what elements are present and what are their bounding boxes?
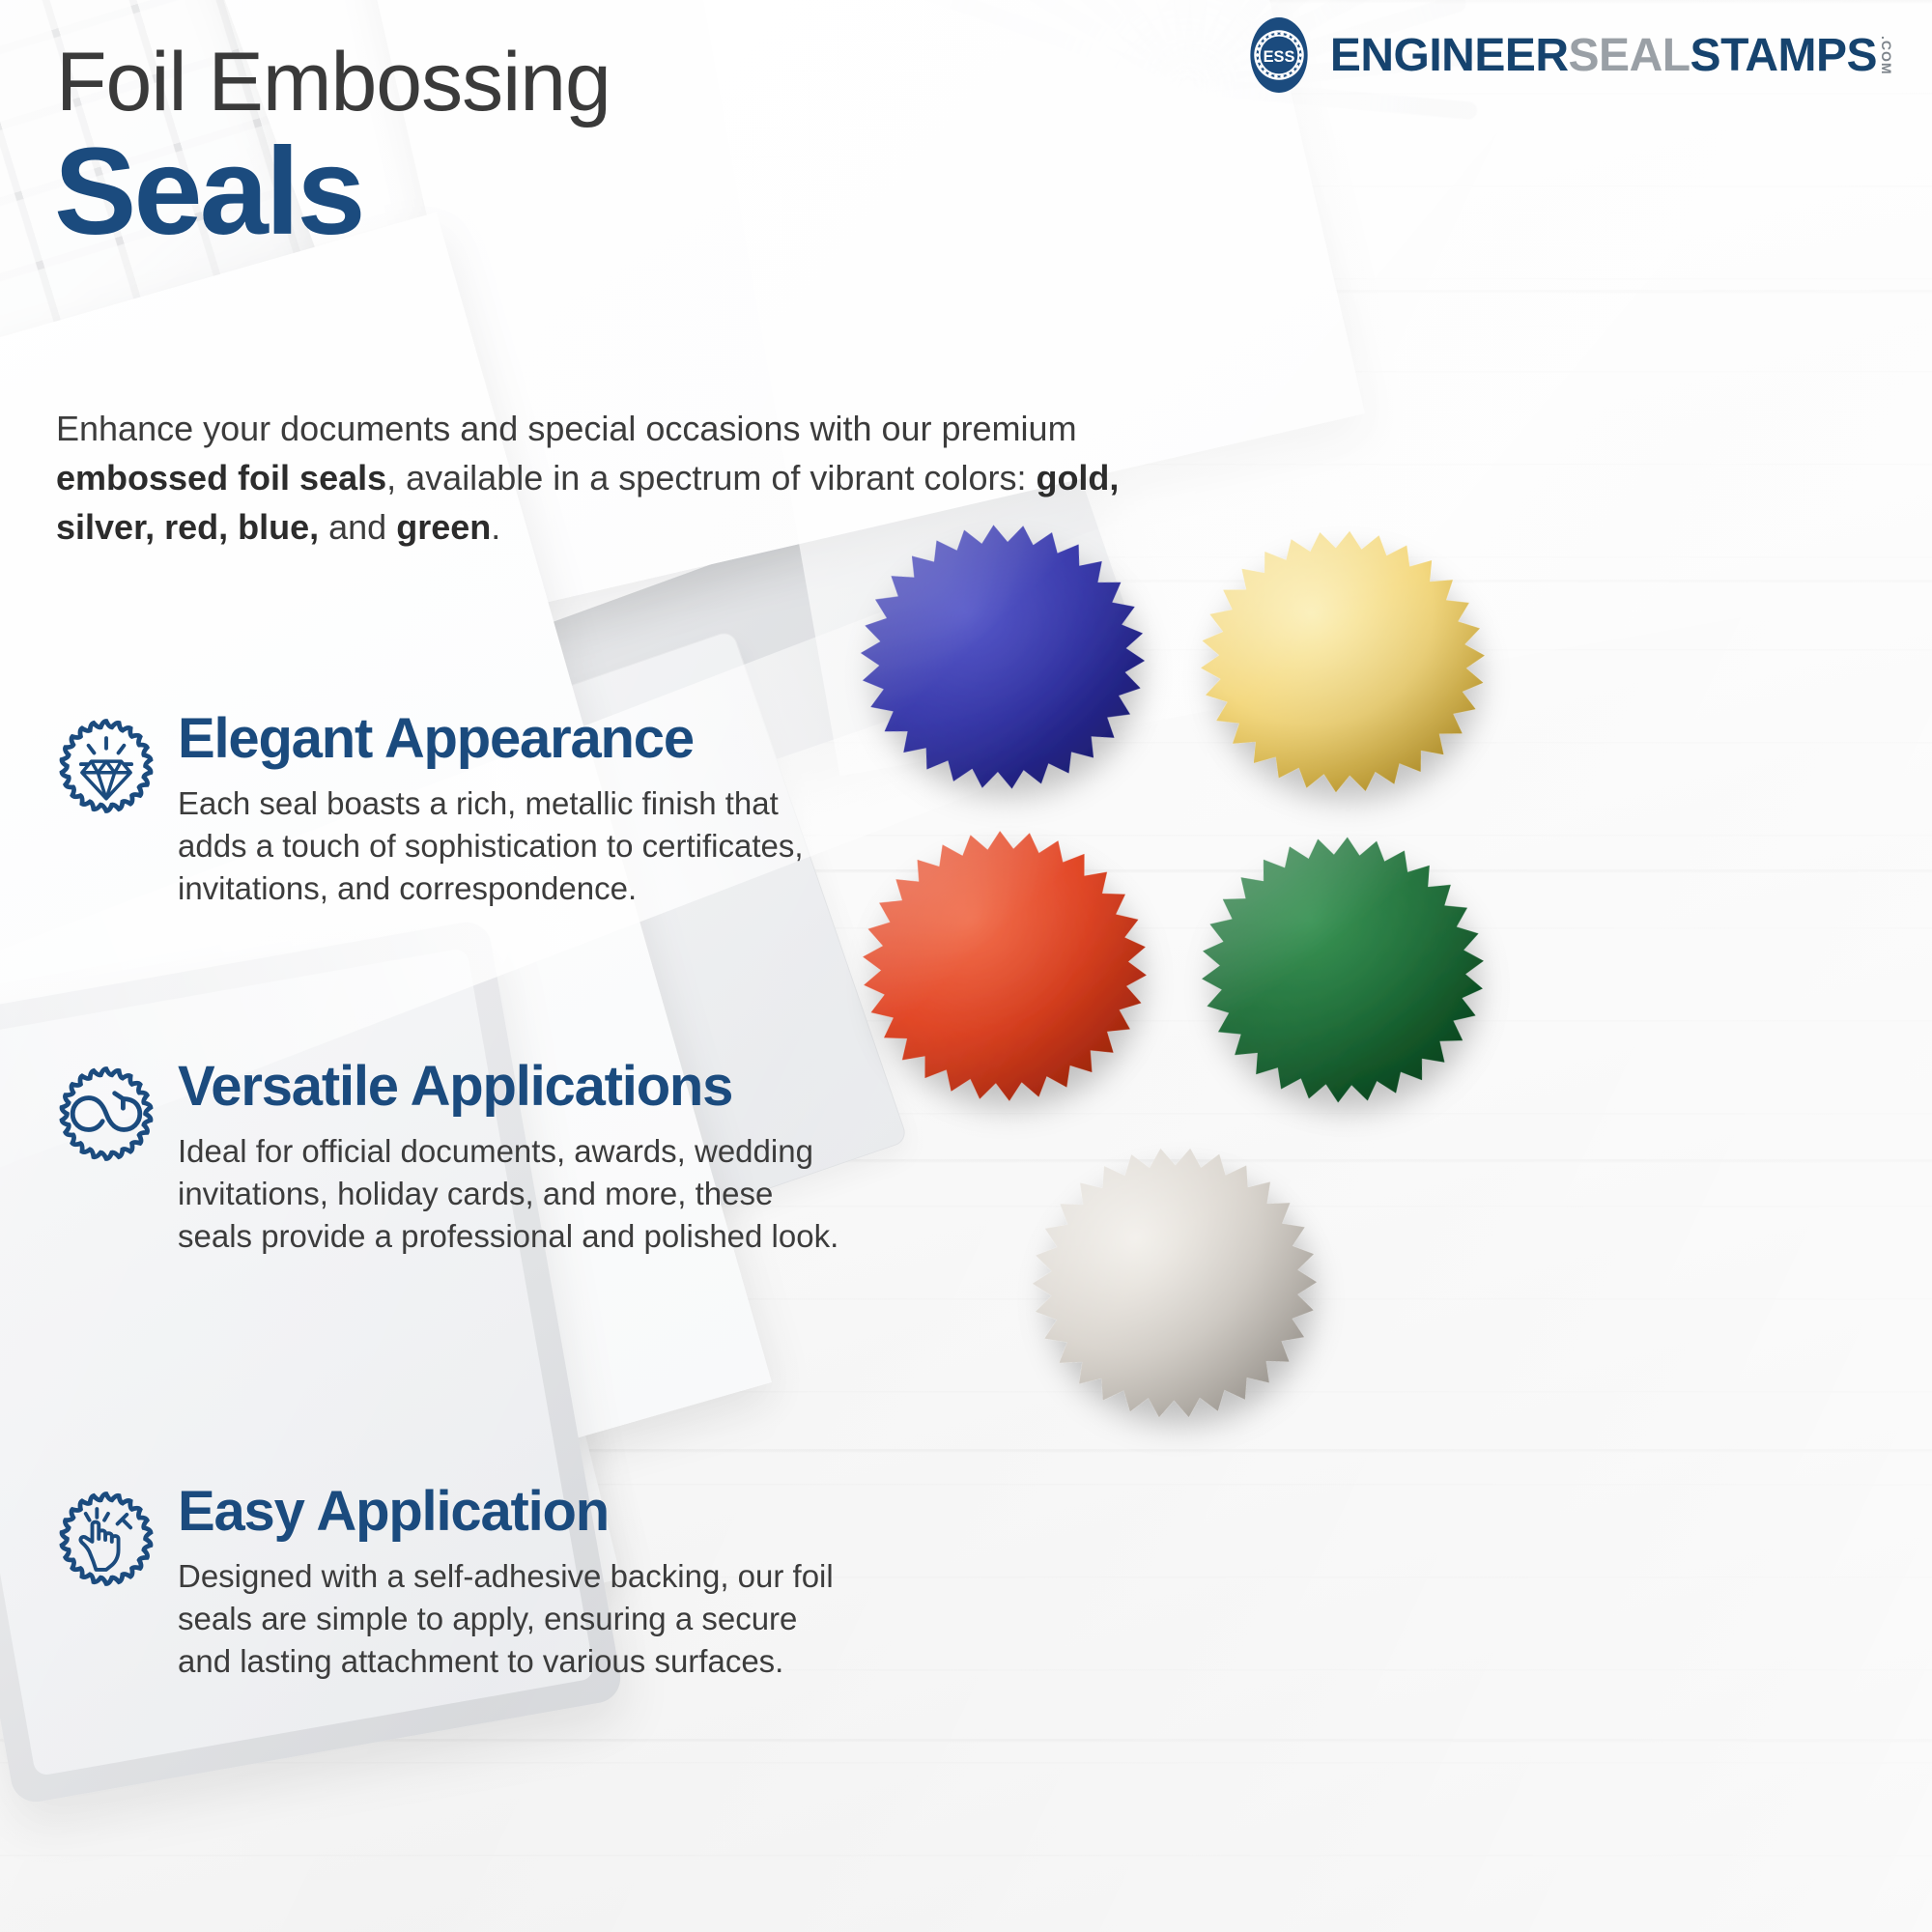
feature-heading: Easy Application [178,1483,881,1542]
red-foil-seal-shape [842,811,1167,1121]
intro-part3: and [319,507,396,547]
brand-wordmark: ENGINEERSEALSTAMPS.COM [1330,29,1893,82]
diamond-gem-icon [50,710,162,822]
feature-body: Ideal for official documents, awards, we… [178,1130,854,1259]
feature-elegant-appearance: Elegant Appearance Each seal boasts a ri… [50,710,881,911]
green-foil-seal-shape [1180,816,1505,1123]
wordmark-stamps: STAMPS [1690,29,1877,82]
blue-foil-seal [837,502,1169,811]
logo-mark-text: ESS [1263,48,1294,66]
wordmark-dotcom: .COM [1880,36,1893,75]
brand-logo[interactable]: ESS ENGINEERSEALSTAMPS.COM [1241,17,1893,93]
infinity-arrow-icon [50,1058,162,1170]
page-title-bold: Seals [54,130,363,254]
gold-foil-seal-shape [1177,507,1509,816]
infographic-content: ESS ENGINEERSEALSTAMPS.COM Foil Embossin… [0,0,1932,1932]
page-title-light: Foil Embossing [56,41,611,124]
feature-body: Each seal boasts a rich, metallic finish… [178,782,854,911]
silver-foil-seal [1012,1128,1337,1437]
silver-foil-seal-shape [1012,1128,1337,1437]
intro-part1: Enhance your documents and special occas… [56,409,1077,448]
intro-part4: . [491,507,500,547]
green-foil-seal [1180,816,1505,1123]
ess-gear-seal-icon: ESS [1241,17,1317,93]
gold-foil-seal [1177,507,1509,816]
intro-bold3: green [396,507,491,547]
intro-part2: , available in a spectrum of vibrant col… [386,458,1036,497]
feature-body: Designed with a self-adhesive backing, o… [178,1555,854,1684]
blue-foil-seal-shape [837,502,1169,811]
wordmark-engineer: ENGINEER [1330,29,1569,82]
red-foil-seal [842,811,1167,1121]
wordmark-seal: SEAL [1569,29,1690,82]
pointing-hand-tap-icon [50,1483,162,1595]
feature-heading: Versatile Applications [178,1058,881,1117]
feature-heading: Elegant Appearance [178,710,881,769]
feature-easy-application: Easy Application Designed with a self-ad… [50,1483,881,1684]
feature-versatile-applications: Versatile Applications Ideal for officia… [50,1058,881,1259]
intro-bold1: embossed foil seals [56,458,386,497]
